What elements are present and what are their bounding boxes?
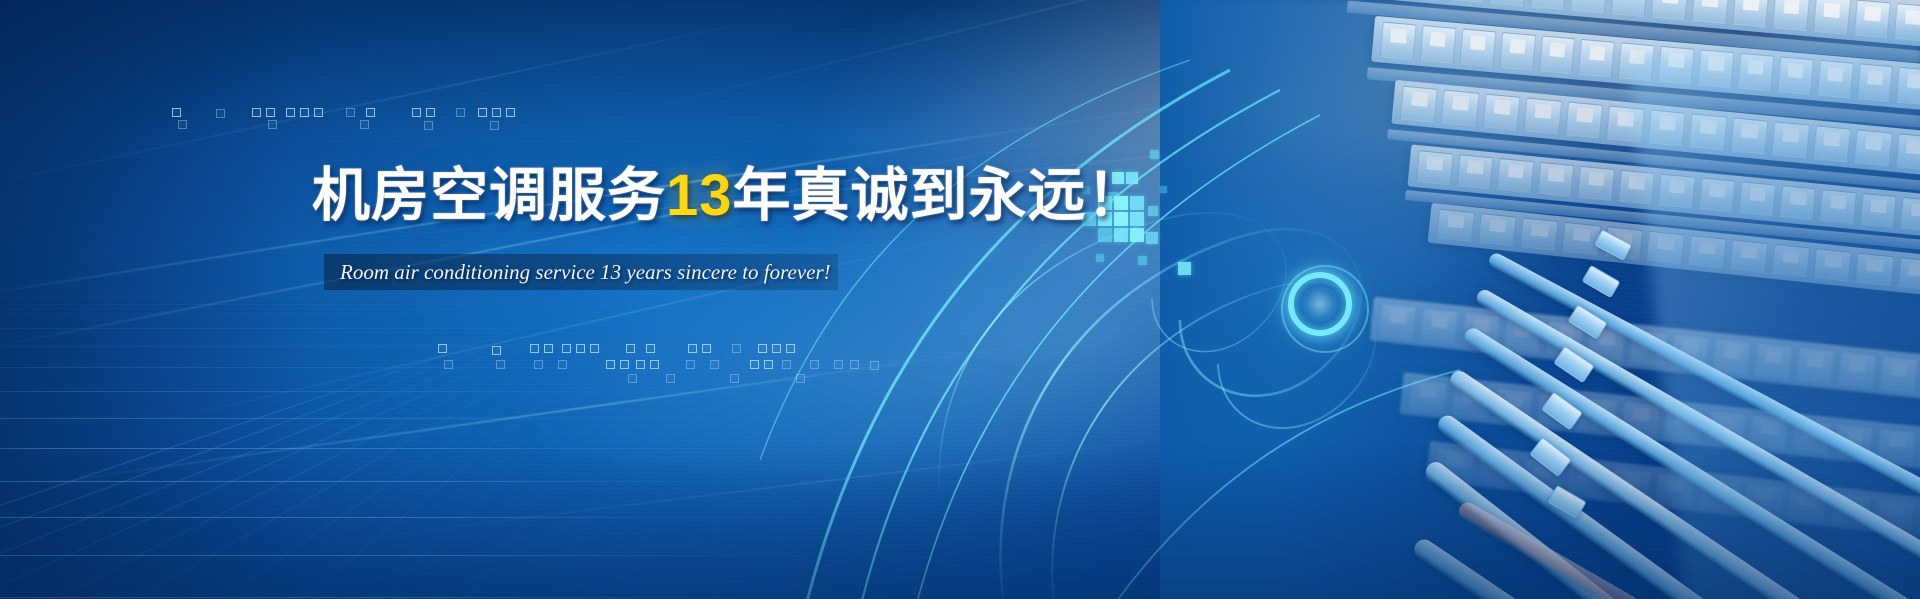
banner-headline: 机房空调服务13年真诚到永远！	[312, 167, 1146, 225]
banner-content: 机房空调服务13年真诚到永远！ Room air conditioning se…	[0, 0, 1920, 599]
headline-highlight-years: 13	[666, 163, 733, 228]
headline-prefix: 机房空调服务	[312, 163, 666, 228]
headline-punctuation: ！	[1087, 163, 1146, 228]
banner-subtitle: Room air conditioning service 13 years s…	[340, 256, 831, 288]
hero-banner: 机房空调服务13年真诚到永远！ Room air conditioning se…	[0, 0, 1920, 599]
headline-suffix: 年真诚到永远	[733, 163, 1087, 228]
